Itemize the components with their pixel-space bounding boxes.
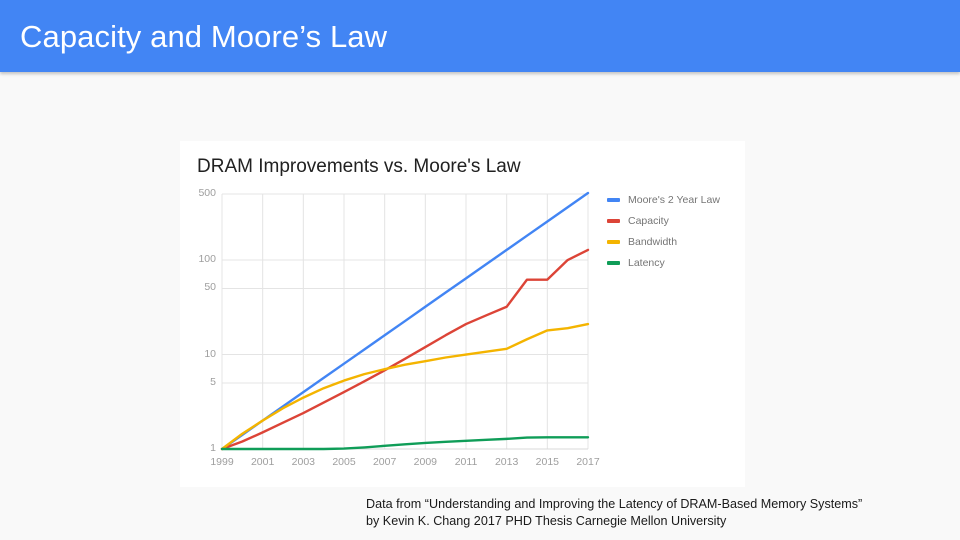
legend-label: Capacity — [628, 215, 669, 227]
x-axis-tick-label: 2015 — [527, 456, 567, 468]
x-axis-tick-label: 2005 — [324, 456, 364, 468]
series-line-2 — [222, 324, 588, 449]
x-axis-tick-label: 2013 — [487, 456, 527, 468]
x-axis-tick-label: 2011 — [446, 456, 486, 468]
y-axis-tick-label: 50 — [182, 281, 216, 293]
legend-swatch-icon — [607, 219, 620, 223]
y-axis-tick-label: 1 — [182, 442, 216, 454]
caption-line-1: Data from “Understanding and Improving t… — [366, 496, 862, 513]
legend-label: Moore's 2 Year Law — [628, 194, 720, 206]
x-axis-tick-label: 1999 — [202, 456, 242, 468]
legend-item[interactable]: Latency — [607, 252, 737, 273]
x-axis-tick-label: 2009 — [405, 456, 445, 468]
legend-label: Latency — [628, 257, 665, 269]
x-axis-tick-label: 2007 — [365, 456, 405, 468]
chart-card: DRAM Improvements vs. Moore's Law 500100… — [180, 141, 745, 487]
chart-legend: Moore's 2 Year LawCapacityBandwidthLaten… — [607, 189, 737, 273]
y-axis-tick-label: 5 — [182, 376, 216, 388]
legend-label: Bandwidth — [628, 236, 677, 248]
legend-swatch-icon — [607, 240, 620, 244]
legend-swatch-icon — [607, 261, 620, 265]
y-axis-tick-label: 100 — [182, 253, 216, 265]
legend-swatch-icon — [607, 198, 620, 202]
series-line-3 — [222, 437, 588, 449]
caption-line-2: by Kevin K. Chang 2017 PHD Thesis Carneg… — [366, 513, 862, 530]
page-title: Capacity and Moore’s Law — [20, 17, 387, 57]
y-axis-tick-label: 500 — [182, 187, 216, 199]
legend-item[interactable]: Bandwidth — [607, 231, 737, 252]
x-axis-tick-label: 2003 — [283, 456, 323, 468]
slide-header-banner: Capacity and Moore’s Law — [0, 0, 960, 72]
y-axis-tick-label: 10 — [182, 348, 216, 360]
legend-item[interactable]: Capacity — [607, 210, 737, 231]
series-line-1 — [222, 250, 588, 449]
x-axis-tick-label: 2001 — [243, 456, 283, 468]
x-axis-tick-label: 2017 — [568, 456, 608, 468]
legend-item[interactable]: Moore's 2 Year Law — [607, 189, 737, 210]
slide-canvas: Capacity and Moore’s Law DRAM Improvemen… — [0, 0, 960, 540]
source-caption: Data from “Understanding and Improving t… — [366, 496, 862, 529]
